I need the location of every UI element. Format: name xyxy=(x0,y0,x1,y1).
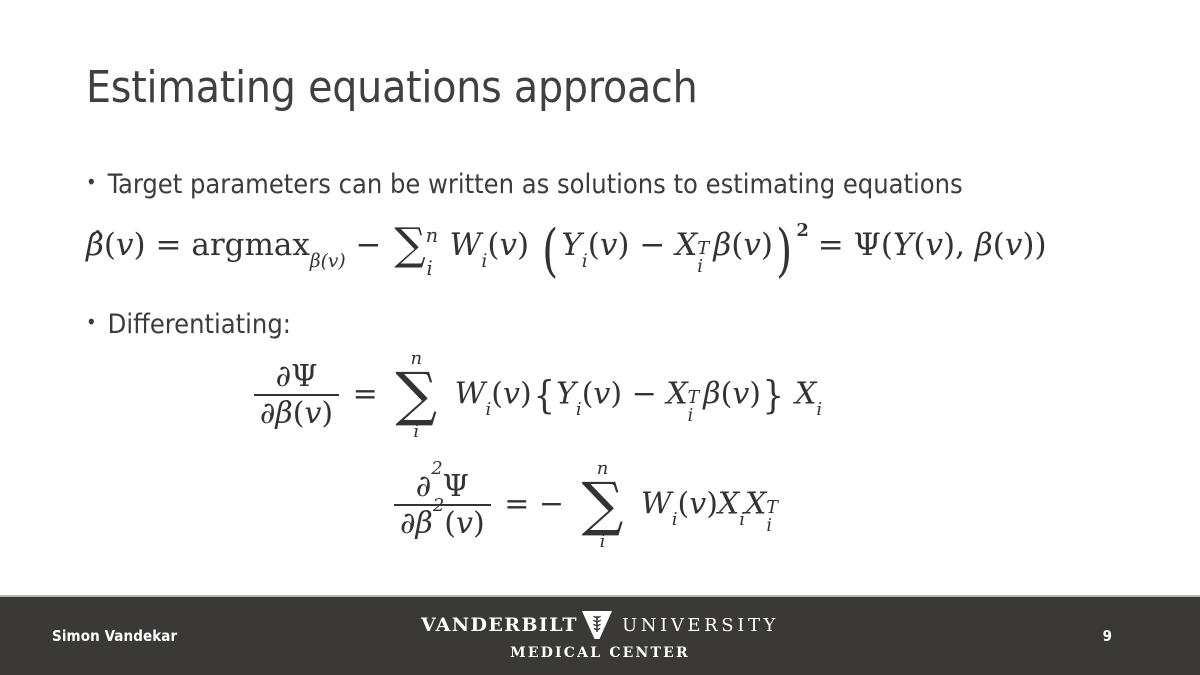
eq3-equals: = xyxy=(504,486,529,521)
eq3-den-paren-open: ( xyxy=(444,506,456,541)
eq2-den-paren-open: ( xyxy=(293,396,305,431)
eq2-W-sub: i xyxy=(486,399,492,420)
eq1-Y: Y xyxy=(561,227,581,263)
eq1-comma: , xyxy=(955,227,965,263)
eq2-beta-paren-open: ( xyxy=(721,376,733,411)
eq2-Y-paren-close: ) xyxy=(610,376,622,411)
eq1-minus: − xyxy=(356,227,382,263)
eq2-Y-sub: i xyxy=(576,399,582,420)
logo-medical-center: MEDICAL CENTER xyxy=(390,645,810,661)
eq1-big-paren-open: ( xyxy=(542,222,558,279)
eq3-partial-den: ∂ xyxy=(400,506,416,541)
eq1-big-paren-close: ) xyxy=(776,222,792,279)
eq2-W-v: v xyxy=(503,376,520,411)
slide-footer: Simon Vandekar VANDERBILT UNIVERSITY MED… xyxy=(0,595,1200,675)
bullet-item-1: • Target parameters can be written as so… xyxy=(86,168,963,202)
eq2-sum-lower: i xyxy=(413,423,419,441)
eq2-den-v: v xyxy=(304,396,321,431)
eq1-psi-paren-open: ( xyxy=(881,227,893,263)
eq1-argmax-subscript: β(v) xyxy=(310,251,346,272)
eq1-X: X xyxy=(675,227,697,263)
eq1-psi-Y-paren-close: ) xyxy=(943,227,955,263)
eq2-sigma-glyph: ∑ xyxy=(395,368,437,422)
bullet-marker-icon-2: • xyxy=(86,308,97,337)
eq1-beta-v: v xyxy=(743,227,761,263)
eq1-equals: = xyxy=(156,227,182,263)
eq1-W-sub: i xyxy=(481,251,487,272)
eq1-psi-Y-paren-open: ( xyxy=(913,227,925,263)
eq2-beta: β xyxy=(703,376,720,411)
eq2-summation: n ∑ i xyxy=(395,350,437,441)
eq1-paren-open: ( xyxy=(104,227,116,263)
eq3-W: W xyxy=(641,486,672,521)
eq2-partial: ∂ xyxy=(276,359,292,394)
eq1-betahat: β̂ xyxy=(86,227,104,263)
eq2-minus: − xyxy=(632,376,657,411)
eq3-summation: n ∑ i xyxy=(582,460,624,551)
equation-2: ∂Ψ ∂β(v) = n ∑ i Wi(v){Yi(v) − XTiβ(v)} … xyxy=(86,350,986,441)
logo-word-vanderbilt: VANDERBILT xyxy=(421,614,578,636)
eq2-X-trailing-sub: i xyxy=(816,399,822,420)
eq3-W-sub: i xyxy=(672,509,678,530)
eq3-beta-den: β xyxy=(416,506,433,541)
eq3-W-v: v xyxy=(689,486,706,521)
eq3-sum-lower: i xyxy=(600,533,606,551)
eq2-W-paren-close: ) xyxy=(520,376,532,411)
eq2-Y: Y xyxy=(556,376,576,411)
eq2-Y-v: v xyxy=(593,376,610,411)
slide-body: • Target parameters can be written as so… xyxy=(86,160,1126,580)
eq2-fraction: ∂Ψ ∂β(v) xyxy=(254,361,339,430)
eq1-equals-2: = xyxy=(818,227,844,263)
eq1-X-sub: i xyxy=(697,258,703,276)
eq1-psi-beta: β xyxy=(975,227,993,263)
eq3-Psi: Ψ xyxy=(443,469,469,504)
eq1-sum-lower: i xyxy=(427,259,433,278)
eq1-W-v: v xyxy=(499,227,517,263)
eq1-v: v xyxy=(116,227,134,263)
eq3-sigma-glyph: ∑ xyxy=(582,478,624,532)
eq2-denominator: ∂β(v) xyxy=(254,394,339,430)
eq1-Y-v: v xyxy=(600,227,618,263)
eq3-W-paren-open: ( xyxy=(678,486,690,521)
eq2-W: W xyxy=(455,376,486,411)
eq3-X1-sub: i xyxy=(739,509,745,530)
bullet-item-2: • Differentiating: xyxy=(86,308,291,342)
eq1-Y-sub: i xyxy=(582,251,588,272)
eq2-X: X xyxy=(666,376,687,411)
eq3-partial-power: 2 xyxy=(431,458,442,479)
eq1-W-paren-close: ) xyxy=(517,227,529,263)
eq3-X2-sub: i xyxy=(766,516,772,536)
eq3-beta-power: 2 xyxy=(433,495,444,516)
eq1-X-sup: T xyxy=(697,240,709,258)
eq1-Y-paren-close: ) xyxy=(617,227,629,263)
bullet-marker-icon: • xyxy=(86,168,97,197)
vanderbilt-logo: VANDERBILT UNIVERSITY MEDICAL CENTER xyxy=(390,611,810,661)
eq1-psi-Y-v: v xyxy=(926,227,944,263)
eq1-summation: ∑ni xyxy=(394,223,437,267)
eq2-numerator: ∂Ψ xyxy=(270,361,324,395)
eq1-beta: β xyxy=(713,227,731,263)
eq1-Psi: Ψ xyxy=(854,227,881,263)
logo-top-row: VANDERBILT UNIVERSITY xyxy=(390,611,810,639)
eq3-minus: − xyxy=(539,486,564,521)
page-title: Estimating equations approach xyxy=(86,62,1126,114)
eq1-power: 2 xyxy=(796,220,809,241)
eq3-den-v: v xyxy=(456,506,473,541)
eq1-sum-upper: n xyxy=(426,226,438,245)
eq2-equals: = xyxy=(353,376,378,411)
eq3-X1: X xyxy=(718,486,739,521)
eq1-psi-beta-paren-open: ( xyxy=(993,227,1005,263)
footer-author: Simon Vandekar xyxy=(52,627,177,645)
eq3-fraction: ∂2Ψ ∂β2(v) xyxy=(394,471,491,540)
eq1-psi-paren-close: ) xyxy=(1035,227,1047,263)
eq1-inner-minus: − xyxy=(639,227,665,263)
eq1-beta-paren-open: ( xyxy=(731,227,743,263)
eq3-denominator: ∂β2(v) xyxy=(394,504,491,540)
eq3-W-paren-close: ) xyxy=(706,486,718,521)
equation-1: β̂(v) = argmaxβ(v) − ∑ni Wi(v) (Yi(v) − … xyxy=(86,222,1047,279)
eq3-den-paren-close: ) xyxy=(473,506,485,541)
bullet-text-1: Target parameters can be written as solu… xyxy=(108,168,963,202)
eq2-beta-v: v xyxy=(732,376,749,411)
eq2-partial-den: ∂ xyxy=(260,396,276,431)
eq2-Y-paren-open: ( xyxy=(582,376,594,411)
eq2-W-paren-open: ( xyxy=(491,376,503,411)
eq2-den-paren-close: ) xyxy=(321,396,333,431)
eq2-beta-paren-close: ) xyxy=(749,376,761,411)
eq2-beta-den: β xyxy=(275,396,292,431)
eq1-beta-paren-close: ) xyxy=(761,227,773,263)
eq3-X2: X xyxy=(745,486,766,521)
eq1-sigma-glyph: ∑ xyxy=(394,219,425,270)
eq2-Psi: Ψ xyxy=(291,359,317,394)
eq1-psi-beta-v: v xyxy=(1005,227,1023,263)
eq1-argmax: argmax xyxy=(191,227,310,263)
eq1-Y-paren-open: ( xyxy=(588,227,600,263)
vanderbilt-v-shield-icon xyxy=(580,610,614,640)
eq1-W: W xyxy=(450,227,482,263)
slide: Estimating equations approach • Target p… xyxy=(0,0,1200,675)
eq1-paren-close: ) xyxy=(134,227,146,263)
eq1-psi-Y: Y xyxy=(893,227,913,263)
logo-word-university: UNIVERSITY xyxy=(622,615,779,636)
slide-number: 9 xyxy=(1103,627,1112,645)
eq2-X-sub: i xyxy=(688,406,694,426)
eq1-W-paren-open: ( xyxy=(487,227,499,263)
eq3-partial: ∂ xyxy=(416,469,432,504)
eq1-psi-beta-paren-close: ) xyxy=(1022,227,1034,263)
eq2-X-trailing: X xyxy=(795,376,816,411)
bullet-text-2: Differentiating: xyxy=(108,308,291,342)
eq2-brace-open: { xyxy=(533,373,555,418)
eq2-brace-close: } xyxy=(762,373,784,418)
equation-3: ∂2Ψ ∂β2(v) = − n ∑ i Wi(v)XiXTi xyxy=(86,460,1086,551)
